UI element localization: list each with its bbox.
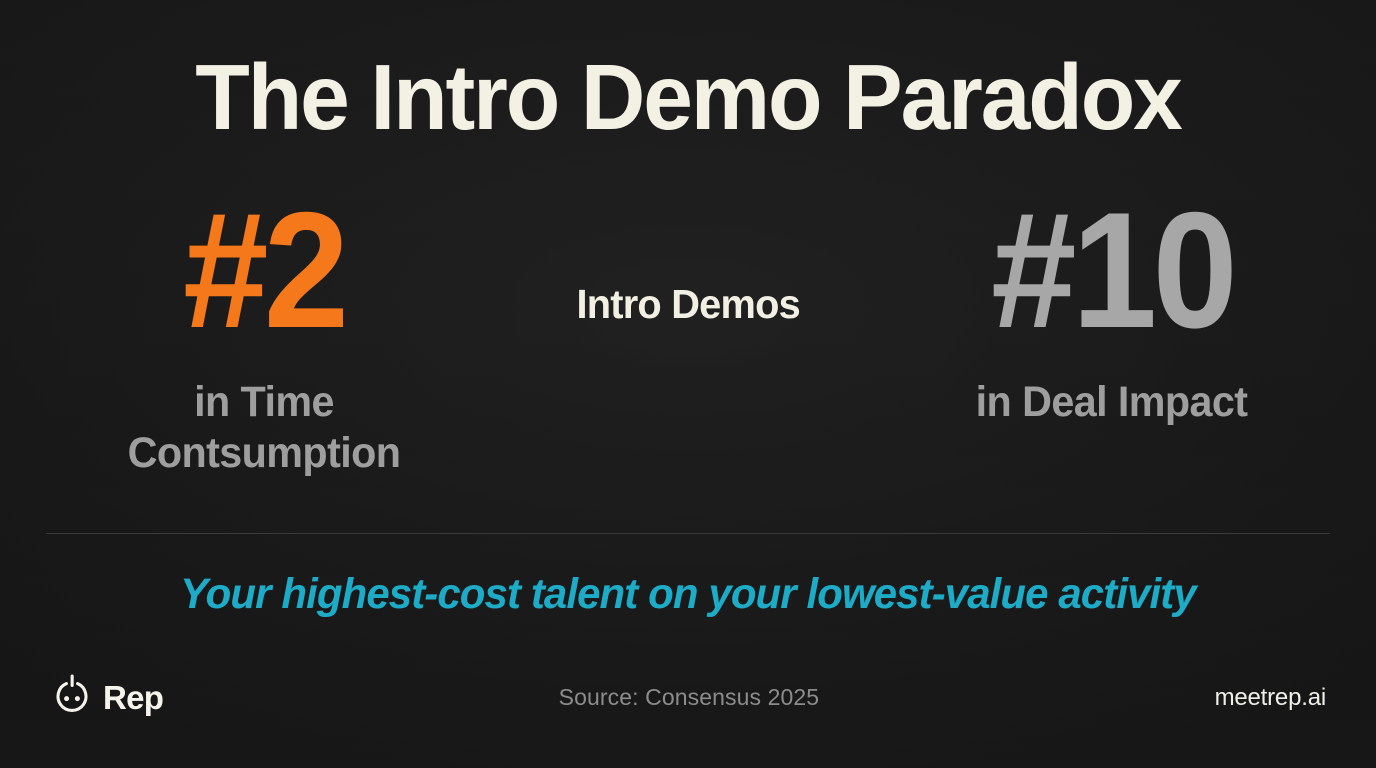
website-url[interactable]: meetrep.ai	[1215, 684, 1326, 712]
stat-label-deal-impact: in Deal Impact	[976, 377, 1248, 428]
tagline: Your highest-cost talent on your lowest-…	[62, 570, 1314, 619]
stat-value-rank-time: #2	[183, 191, 344, 349]
stat-block-time-consumption: #2 in Time Contsumption	[64, 191, 464, 479]
stats-row: #2 in Time Contsumption Intro Demos #10 …	[46, 191, 1330, 479]
page-title: The Intro Demo Paradox	[72, 50, 1305, 145]
footer: Rep Source: Consensus 2025 meetrep.ai	[46, 673, 1330, 722]
rep-robot-face-icon	[52, 673, 92, 722]
infographic-slide: The Intro Demo Paradox #2 in Time Contsu…	[0, 0, 1376, 768]
brand-lockup[interactable]: Rep	[52, 673, 163, 722]
divider-container	[46, 533, 1330, 536]
source-attribution: Source: Consensus 2025	[559, 684, 819, 711]
brand-name-label: Rep	[103, 679, 163, 717]
stat-block-center: Intro Demos	[523, 191, 853, 328]
horizontal-divider	[46, 533, 1330, 534]
stat-label-time-consumption: in Time Contsumption	[72, 377, 456, 478]
center-label-intro-demos: Intro Demos	[576, 281, 799, 328]
stat-block-deal-impact: #10 in Deal Impact	[912, 191, 1312, 428]
stat-value-rank-deal-impact: #10	[991, 191, 1233, 349]
